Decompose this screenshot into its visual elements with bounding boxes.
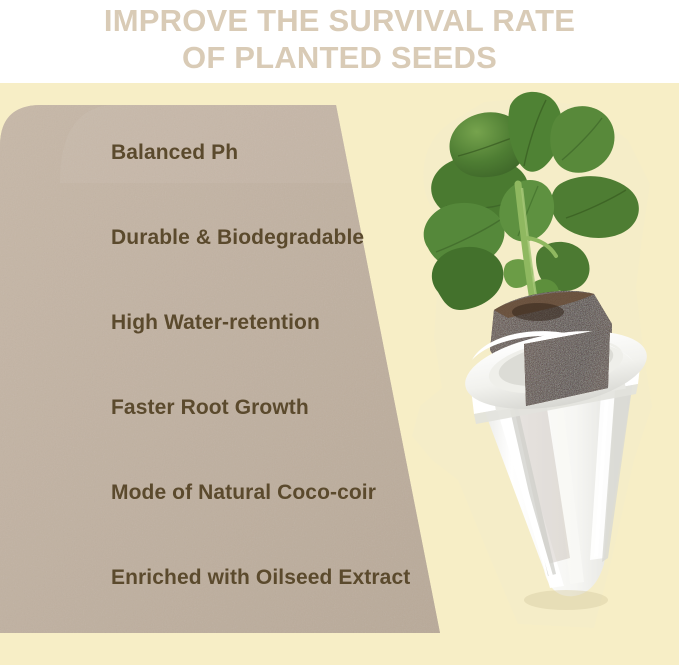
list-item: Balanced Ph: [111, 140, 511, 225]
header-band: IMPROVE THE SURVIVAL RATE OF PLANTED SEE…: [0, 0, 679, 83]
list-item: Durable & Biodegradable: [111, 225, 511, 310]
list-item: Faster Root Growth: [111, 395, 511, 480]
feature-label: Durable & Biodegradable: [111, 225, 364, 251]
list-item: Enriched with Oilseed Extract: [111, 565, 511, 650]
feature-label: High Water-retention: [111, 310, 320, 336]
feature-list: Balanced Ph Durable & Biodegradable High…: [111, 140, 511, 650]
feature-label: Mode of Natural Coco-coir: [111, 480, 376, 506]
list-item: High Water-retention: [111, 310, 511, 395]
feature-label: Faster Root Growth: [111, 395, 309, 421]
list-item: Mode of Natural Coco-coir: [111, 480, 511, 565]
feature-label: Enriched with Oilseed Extract: [111, 565, 410, 591]
infographic-root: Balanced Ph Durable & Biodegradable High…: [0, 0, 679, 665]
page-title: IMPROVE THE SURVIVAL RATE OF PLANTED SEE…: [0, 2, 679, 76]
feature-label: Balanced Ph: [111, 140, 238, 166]
